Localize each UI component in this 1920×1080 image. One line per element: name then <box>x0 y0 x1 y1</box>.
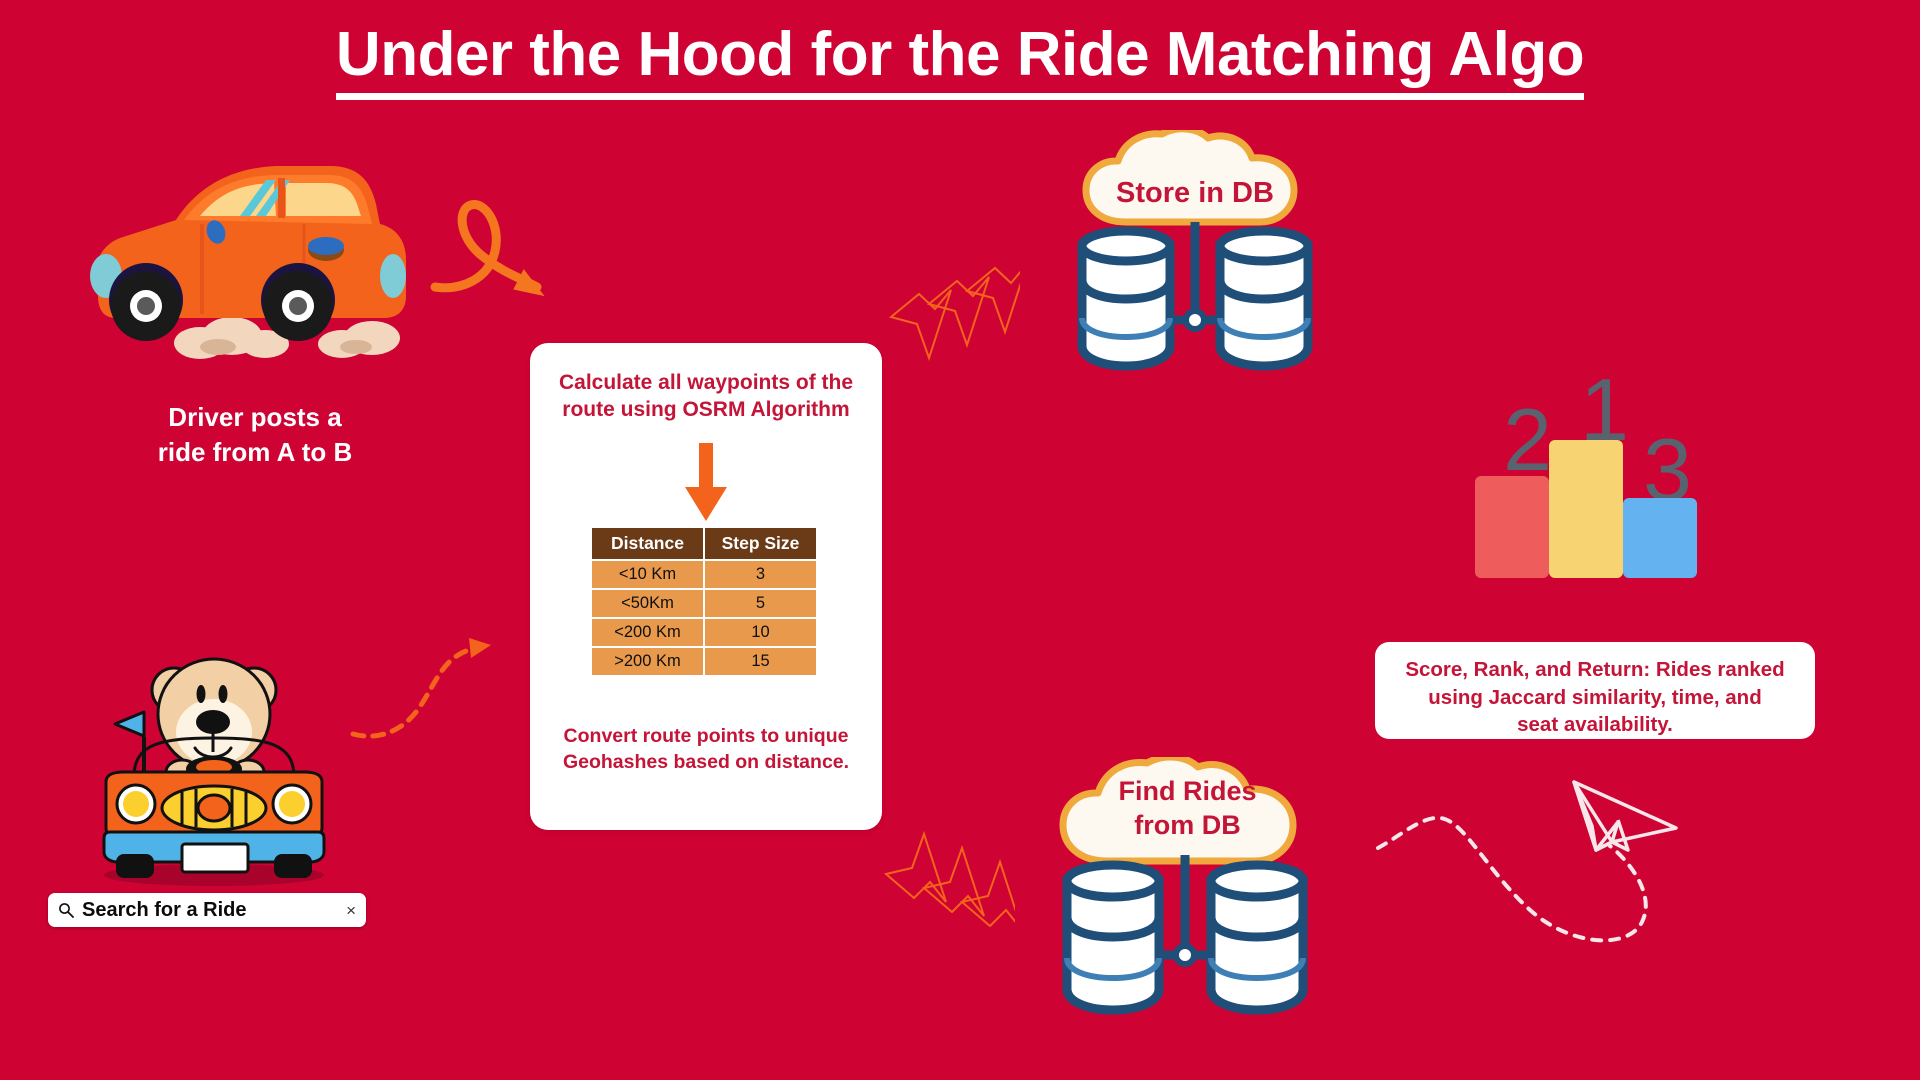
table-row: <10 Km 3 <box>591 560 817 589</box>
table-header-step-size: Step Size <box>704 527 817 560</box>
cell-distance: <10 Km <box>591 560 704 589</box>
driver-caption: Driver posts a ride from A to B <box>95 400 415 469</box>
ranking-podium-icon: 2 1 3 <box>1475 378 1705 598</box>
find-rides-label-line1: Find Rides <box>1055 775 1320 809</box>
step-size-table: Distance Step Size <10 Km 3 <50Km 5 <200… <box>590 526 818 677</box>
score-line2: using Jaccard similarity, time, and <box>1428 686 1761 709</box>
podium-bar-3 <box>1623 498 1697 578</box>
search-bar[interactable]: Search for a Ride × <box>48 893 366 927</box>
find-rides-label-line2: from DB <box>1055 809 1320 843</box>
search-clear-icon[interactable]: × <box>346 902 356 919</box>
curly-arrow-icon <box>425 175 555 300</box>
card-title-line1: Calculate all waypoints of the <box>544 369 868 396</box>
podium-bar-2 <box>1475 476 1549 578</box>
card-title-line2: route using OSRM Algorithm <box>544 396 868 423</box>
store-in-db-label: Store in DB <box>1080 175 1310 211</box>
table-row: <200 Km 10 <box>591 618 817 647</box>
bear-driver-illustration <box>82 632 347 887</box>
chevron-arrows-down-icon <box>880 812 1015 927</box>
cell-step-size: 15 <box>704 647 817 676</box>
score-line3: seat availability. <box>1517 713 1673 736</box>
page-title: Under the Hood for the Ride Matching Alg… <box>0 22 1920 100</box>
table-row: <50Km 5 <box>591 589 817 618</box>
table-header-row: Distance Step Size <box>591 527 817 560</box>
find-rides-db-cylinders-icon <box>1045 855 1325 1030</box>
page-title-text: Under the Hood for the Ride Matching Alg… <box>336 22 1584 100</box>
table-header-distance: Distance <box>591 527 704 560</box>
osrm-waypoints-card: Calculate all waypoints of the route usi… <box>530 343 882 830</box>
search-icon <box>58 902 74 918</box>
search-input-value[interactable]: Search for a Ride <box>82 899 346 922</box>
store-in-db-label-text: Store in DB <box>1116 177 1274 209</box>
podium-bar-1 <box>1549 440 1623 578</box>
score-rank-return-box: Score, Rank, and Return: Rides ranked us… <box>1375 642 1815 739</box>
dashed-curve-arrow-icon <box>345 612 505 742</box>
cell-step-size: 3 <box>704 560 817 589</box>
card-footer-line1: Convert route points to unique <box>544 723 868 749</box>
chevron-arrows-up-icon <box>885 262 1020 377</box>
down-arrow-icon <box>682 443 730 525</box>
driver-caption-line2: ride from A to B <box>95 435 415 470</box>
card-footer-line2: Geohashes based on distance. <box>544 749 868 775</box>
card-title: Calculate all waypoints of the route usi… <box>544 369 868 424</box>
infographic-canvas: Under the Hood for the Ride Matching Alg… <box>0 0 1920 1080</box>
card-footer: Convert route points to unique Geohashes… <box>544 723 868 776</box>
cell-step-size: 5 <box>704 589 817 618</box>
cell-distance: <200 Km <box>591 618 704 647</box>
score-rank-return-text: Score, Rank, and Return: Rides ranked us… <box>1375 642 1815 739</box>
podium-number-2: 2 <box>1503 390 1552 489</box>
score-line1: Score, Rank, and Return: Rides ranked <box>1405 658 1784 681</box>
table-row: >200 Km 15 <box>591 647 817 676</box>
orange-car-illustration <box>80 128 420 363</box>
cell-step-size: 10 <box>704 618 817 647</box>
cell-distance: >200 Km <box>591 647 704 676</box>
paper-plane-icon <box>1360 750 1680 975</box>
store-db-cylinders-icon <box>1060 222 1330 382</box>
find-rides-label: Find Rides from DB <box>1055 775 1320 843</box>
cell-distance: <50Km <box>591 589 704 618</box>
driver-caption-line1: Driver posts a <box>95 400 415 435</box>
